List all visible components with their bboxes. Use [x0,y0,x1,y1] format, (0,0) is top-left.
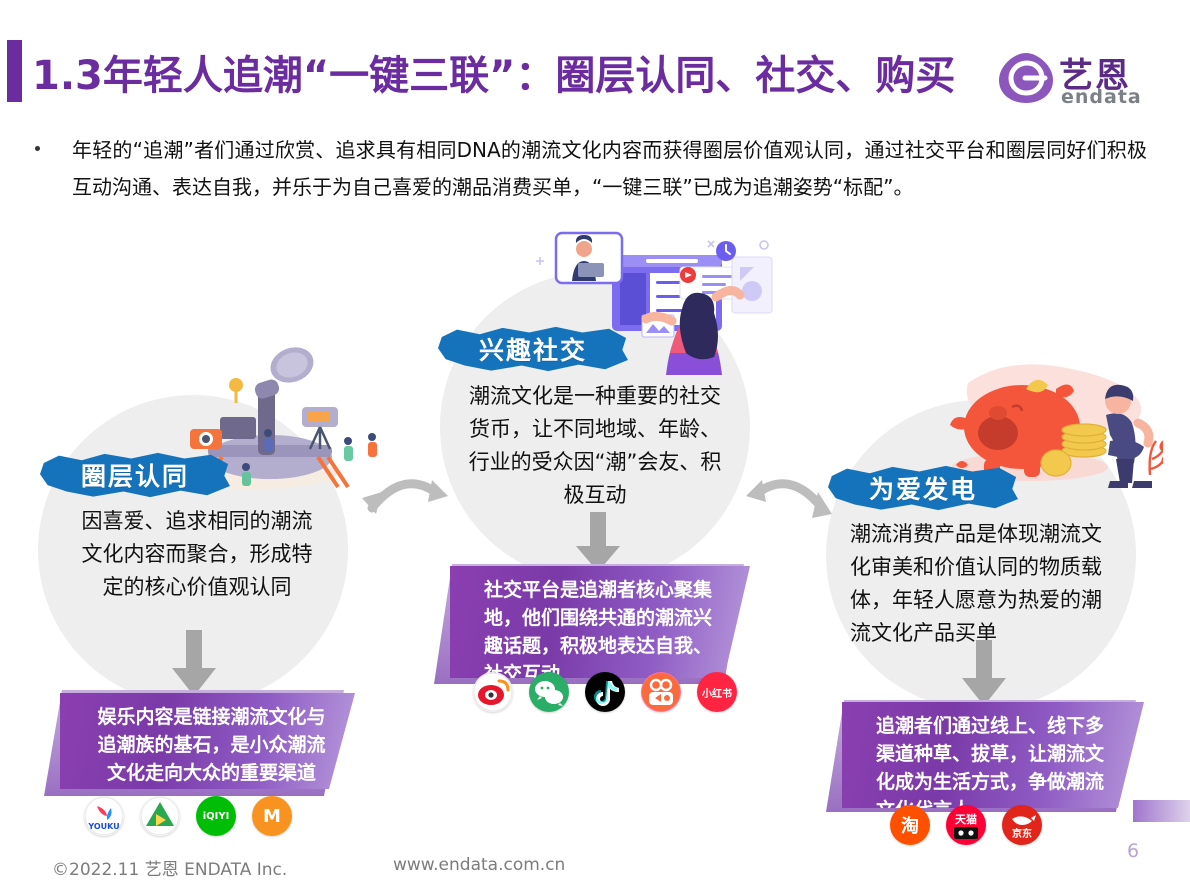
brand-taobao[interactable]: 淘 [890,805,930,845]
left-banner: 娱乐内容是链接潮流文化与追潮族的基石，是小众潮流文化走向大众的重要渠道 [60,693,355,789]
page-title: 1.3年轻人追潮“一键三联”：圈层认同、社交、购买 [32,43,955,101]
left-brand-strip: YOUKU iQIYI M [84,796,308,836]
svg-text:天猫: 天猫 [955,812,977,826]
right-column-label-text: 为爱发电 [869,470,977,506]
brand-mango-tv[interactable]: M [252,796,292,836]
weibo-icon [473,672,513,712]
page-number: 6 [1127,840,1139,862]
middle-banner-text: 社交平台是追潮者核心聚集地，他们围绕共通的潮流兴趣话题，积极地表达自我、社交互动 [484,579,712,685]
left-column-description: 因喜爱、追求相同的潮流文化内容而聚合，形成特定的核心价值观认同 [72,505,322,604]
brand-weibo[interactable] [473,672,513,712]
right-down-arrow-icon [958,640,1010,708]
title-accent-bar [7,40,22,102]
brand-xiaohongshu[interactable]: 小红书 [697,672,737,712]
arrow-left-to-middle-icon [352,462,456,532]
left-down-arrow-icon [168,630,220,698]
brand-tmall[interactable]: 天猫 [946,805,986,845]
right-brand-strip: 淘 天猫 京东 [890,805,1058,845]
right-column-description: 潮流消费产品是体现潮流文化审美和价值认同的物质载体，年轻人愿意为热爱的潮流文化产… [850,518,1115,650]
corner-decoration [1133,800,1190,822]
footer-copyright: ©2022.11 艺恩 ENDATA Inc. [52,855,287,880]
middle-brand-strip: 小红书 [473,672,753,712]
left-column-label-badge: 圈层认同 [40,452,230,498]
tmall-icon: 天猫 [946,805,986,845]
middle-column-description: 潮流文化是一种重要的社交货币，让不同地域、年龄、行业的受众因“潮”会友、积极互动 [464,380,726,512]
middle-banner: 社交平台是追潮者核心聚集地，他们围绕共通的潮流兴趣话题，积极地表达自我、社交互动 [450,566,750,678]
right-banner: 追潮者们通过线上、线下多渠道种草、拔草，让潮流文化成为生活方式，争做潮流文化代言… [842,702,1144,808]
wechat-icon [529,672,569,712]
right-column-label-badge: 为爱发电 [828,465,1018,511]
piggy-bank-coins-illustration [938,355,1163,490]
jd-icon: 京东 [1002,805,1042,845]
brand-youku[interactable]: YOUKU [84,796,124,836]
svg-text:京东: 京东 [1012,827,1032,840]
left-column-label-text: 圈层认同 [81,457,189,493]
bullet-point-icon [35,146,40,151]
brand-tencent-video[interactable] [140,796,180,836]
middle-column-label-badge: 兴趣社交 [438,326,628,372]
middle-column-label-text: 兴趣社交 [479,331,587,367]
brand-wechat[interactable] [529,672,569,712]
endata-e-mark-icon [997,52,1055,104]
brand-jd[interactable]: 京东 [1002,805,1042,845]
brand-douyin[interactable] [585,672,625,712]
footer-url[interactable]: www.endata.com.cn [393,855,565,875]
endata-logo: 艺恩 endata [997,46,1159,110]
youku-icon: YOUKU [84,796,124,836]
left-banner-text: 娱乐内容是链接潮流文化与追潮族的基石，是小众潮流文化走向大众的重要渠道 [97,706,325,784]
brand-iqiyi[interactable]: iQIYI [196,796,236,836]
bilibili-icon [641,672,681,712]
douyin-icon [585,672,625,712]
brand-bilibili[interactable] [641,672,681,712]
logo-english-name: endata [1061,86,1142,108]
arrow-middle-to-right-icon [738,462,842,532]
tencent-video-icon [140,796,180,836]
body-paragraph: 年轻的“追潮”者们通过欣赏、追求具有相同DNA的潮流文化内容而获得圈层价值观认同… [72,132,1147,206]
svg-text:YOUKU: YOUKU [87,822,119,831]
